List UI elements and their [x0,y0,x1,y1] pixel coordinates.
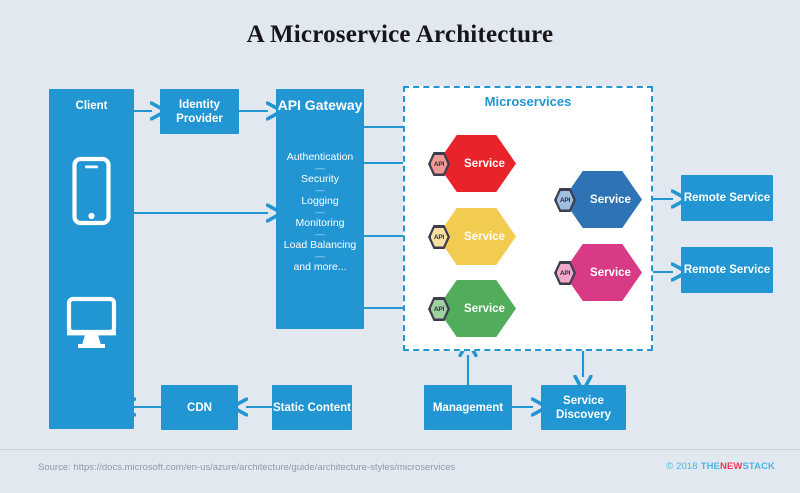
api-gateway-feature: and more... [276,261,364,273]
service-label: Service [464,303,505,315]
cdn-label: CDN [187,401,212,415]
api-gateway-title: API Gateway [276,98,364,113]
api-gateway-feature: Load Balancing [276,239,364,251]
feature-separator: — [276,163,364,173]
management-label: Management [433,401,503,415]
api-gateway-feature: Logging [276,195,364,207]
remote-service-label: Remote Service [684,191,770,205]
remote-service-label: Remote Service [684,263,770,277]
client-box[interactable]: Client [49,89,134,429]
page-title: A Microservice Architecture [0,21,800,49]
service-discovery-box[interactable]: Service Discovery [541,385,626,430]
logo-new: NEW [720,461,742,472]
microservices-title: Microservices [403,94,653,109]
client-label: Client [49,99,134,113]
footer-divider [0,449,800,450]
diagram-canvas: A Microservice Architecture [0,0,800,493]
api-gateway-feature: Authentication [276,151,364,163]
remote-service-box-2[interactable]: Remote Service [681,247,773,293]
logo-the: THE [701,461,720,472]
identity-provider-box[interactable]: Identity Provider [160,89,239,134]
service-label: Service [590,267,631,279]
feature-separator: — [276,185,364,195]
api-badge-label: API [434,306,444,313]
thenewstack-logo: © 2018THENEWSTACK [666,461,775,472]
static-content-label: Static Content [273,401,351,415]
copyright-label: © 2018 [666,461,697,472]
source-caption: Source: https://docs.microsoft.com/en-us… [38,462,455,473]
service-label: Service [464,231,505,243]
api-gateway-feature: Security [276,173,364,185]
api-badge-label: API [434,161,444,168]
service-label: Service [590,194,631,206]
service-label: Service [464,158,505,170]
monitor-icon [49,291,134,377]
api-badge-label: API [560,197,570,204]
remote-service-box-1[interactable]: Remote Service [681,175,773,221]
api-badge-label: API [434,234,444,241]
api-gateway-feature: Monitoring [276,217,364,229]
cdn-box[interactable]: CDN [161,385,238,430]
feature-separator: — [276,229,364,239]
api-badge-label: API [560,270,570,277]
api-gateway-box[interactable]: API Gateway Authentication — Security — … [276,89,364,329]
client-devices [49,151,134,377]
phone-icon [49,151,134,261]
api-gateway-feature-list: Authentication — Security — Logging — Mo… [276,151,364,273]
management-box[interactable]: Management [424,385,512,430]
service-discovery-label: Service Discovery [541,394,626,422]
feature-separator: — [276,207,364,217]
feature-separator: — [276,251,364,261]
logo-stack: STACK [742,461,775,472]
static-content-box[interactable]: Static Content [272,385,352,430]
identity-provider-label: Identity Provider [160,98,239,126]
